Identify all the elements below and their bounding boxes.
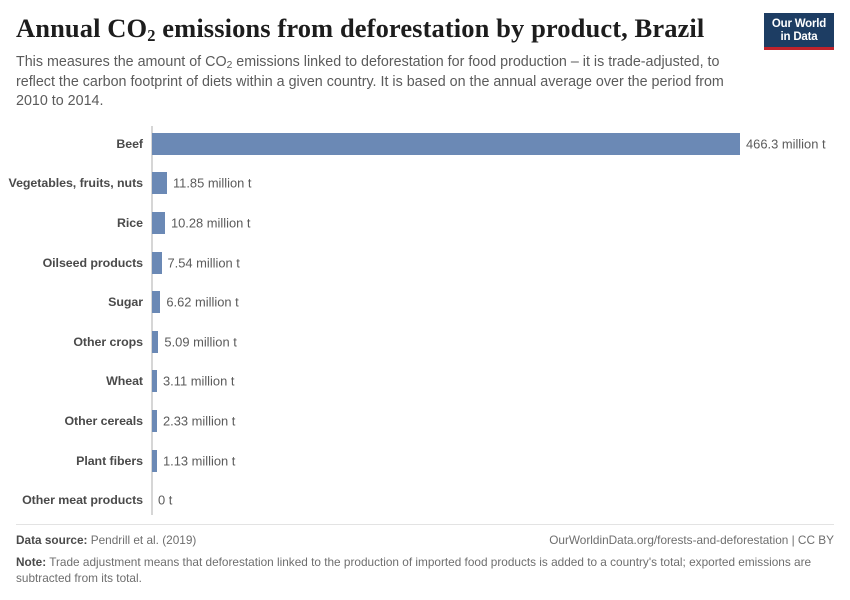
bar-value-label: 11.85 million t (173, 176, 252, 191)
bar-row[interactable]: Other meat products0 t (0, 480, 850, 520)
bar-rect[interactable] (152, 331, 158, 353)
owid-logo[interactable]: Our World in Data (764, 13, 834, 50)
bar-category-label: Other crops (0, 335, 143, 349)
bar-value-label: 2.33 million t (163, 413, 235, 428)
title-prefix: Annual CO (16, 13, 147, 43)
subtitle-part-1: This measures the amount of CO (16, 54, 227, 70)
subtitle-subscript: 2 (227, 60, 233, 71)
chart-container: Annual CO2 emissions from deforestation … (0, 0, 850, 600)
bar-value-label: 7.54 million t (168, 255, 240, 270)
bar-value-label: 0 t (158, 493, 172, 508)
bar-track: 466.3 million t (152, 133, 850, 155)
page-title: Annual CO2 emissions from deforestation … (16, 13, 756, 47)
bar-row[interactable]: Other cereals2.33 million t (0, 401, 850, 441)
bar-rect[interactable] (152, 133, 740, 155)
bar-value-label: 6.62 million t (166, 295, 238, 310)
bar-track: 6.62 million t (152, 291, 850, 313)
bar-category-label: Beef (0, 137, 143, 151)
bar-row[interactable]: Oilseed products7.54 million t (0, 243, 850, 283)
bar-value-label: 5.09 million t (164, 334, 236, 349)
bar-category-label: Rice (0, 216, 143, 230)
data-source-value: Pendrill et al. (2019) (91, 533, 197, 547)
title-subscript: 2 (147, 26, 155, 45)
bar-category-label: Other meat products (0, 493, 143, 507)
plot-area: Beef466.3 million tVegetables, fruits, n… (0, 124, 850, 520)
chart-header: Annual CO2 emissions from deforestation … (0, 0, 850, 112)
bar-category-label: Sugar (0, 295, 143, 309)
owid-logo-line-1: Our World (768, 18, 830, 31)
bar-track: 5.09 million t (152, 331, 850, 353)
title-suffix: emissions from deforestation by product,… (156, 13, 705, 43)
footer-row: Data source: Pendrill et al. (2019) OurW… (16, 533, 834, 548)
bar-category-label: Vegetables, fruits, nuts (0, 176, 143, 190)
bar-rect[interactable] (152, 450, 157, 472)
footer-note-value: Trade adjustment means that deforestatio… (16, 555, 811, 585)
bar-row[interactable]: Sugar6.62 million t (0, 282, 850, 322)
bar-value-label: 466.3 million t (746, 136, 826, 151)
bar-category-label: Plant fibers (0, 454, 143, 468)
chart-subtitle: This measures the amount of CO2 emission… (16, 53, 756, 112)
bar-rect[interactable] (152, 252, 162, 274)
bar-value-label: 1.13 million t (163, 453, 235, 468)
bar-row[interactable]: Vegetables, fruits, nuts11.85 million t (0, 164, 850, 204)
bar-track: 3.11 million t (152, 370, 850, 392)
bar-category-label: Wheat (0, 374, 143, 388)
data-source: Data source: Pendrill et al. (2019) (16, 533, 196, 548)
bar-rect[interactable] (152, 370, 157, 392)
data-source-label: Data source: (16, 533, 87, 547)
bar-rect[interactable] (152, 172, 167, 194)
bar-track: 10.28 million t (152, 212, 850, 234)
bar-value-label: 3.11 million t (163, 374, 234, 389)
bar-track: 2.33 million t (152, 410, 850, 432)
bar-row[interactable]: Wheat3.11 million t (0, 362, 850, 402)
bar-row[interactable]: Rice10.28 million t (0, 203, 850, 243)
bar-category-label: Other cereals (0, 414, 143, 428)
bar-track: 1.13 million t (152, 450, 850, 472)
bar-track: 11.85 million t (152, 172, 850, 194)
bar-value-label: 10.28 million t (171, 215, 251, 230)
owid-logo-line-2: in Data (768, 31, 830, 44)
bar-category-label: Oilseed products (0, 256, 143, 270)
bar-row[interactable]: Other crops5.09 million t (0, 322, 850, 362)
chart-footer: Data source: Pendrill et al. (2019) OurW… (16, 524, 834, 586)
bar-rect[interactable] (152, 410, 157, 432)
footer-note: Note: Trade adjustment means that defore… (16, 555, 816, 586)
bar-row[interactable]: Plant fibers1.13 million t (0, 441, 850, 481)
bar-track: 0 t (152, 489, 850, 511)
footer-note-label: Note: (16, 555, 46, 569)
bar-track: 7.54 million t (152, 252, 850, 274)
footer-link[interactable]: OurWorldinData.org/forests-and-deforesta… (549, 533, 834, 548)
bar-rect[interactable] (152, 212, 165, 234)
bar-rect[interactable] (152, 291, 160, 313)
bar-row[interactable]: Beef466.3 million t (0, 124, 850, 164)
